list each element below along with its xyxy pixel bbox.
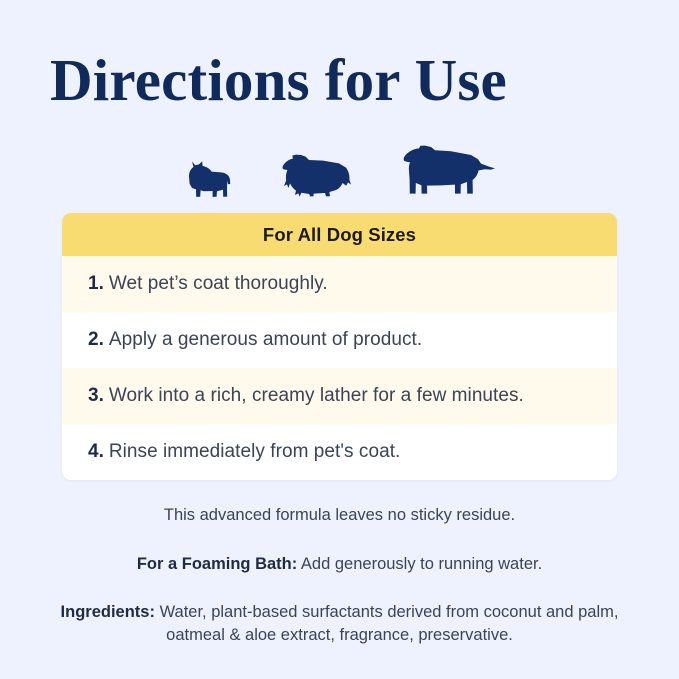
ingredients-note: Ingredients: Water, plant-based surfacta…: [40, 601, 639, 649]
footer-notes: This advanced formula leaves no sticky r…: [40, 500, 639, 648]
medium-dog-silhouette: [279, 150, 357, 200]
page-title: Directions for Use: [50, 50, 507, 112]
directions-for-use-panel: Directions for Use For All Dog Sizes 1. …: [0, 0, 679, 679]
step-text: Rinse immediately from pet's coat.: [109, 441, 401, 463]
ingredients-label: Ingredients:: [61, 603, 155, 621]
small-dog-silhouette: [183, 160, 235, 200]
step-number: 1.: [88, 273, 104, 295]
step-number: 2.: [88, 329, 104, 351]
step-row: 1. Wet pet’s coat thoroughly.: [62, 256, 617, 312]
step-text: Wet pet’s coat thoroughly.: [109, 273, 328, 295]
step-row: 3. Work into a rich, creamy lather for a…: [62, 368, 617, 424]
step-row: 4. Rinse immediately from pet's coat.: [62, 424, 617, 480]
step-number: 3.: [88, 385, 104, 407]
foaming-bath-note: For a Foaming Bath: Add generously to ru…: [40, 553, 639, 575]
residue-note: This advanced formula leaves no sticky r…: [40, 504, 639, 526]
directions-card: For All Dog Sizes 1. Wet pet’s coat thor…: [62, 213, 617, 480]
ingredients-text: Water, plant-based surfactants derived f…: [155, 603, 618, 645]
foaming-bath-text: Add generously to running water.: [297, 555, 542, 573]
step-text: Apply a generous amount of product.: [109, 329, 422, 351]
step-text: Work into a rich, creamy lather for a fe…: [109, 385, 524, 407]
step-number: 4.: [88, 441, 104, 463]
card-header: For All Dog Sizes: [62, 213, 617, 256]
large-dog-silhouette: [401, 142, 497, 200]
foaming-bath-label: For a Foaming Bath:: [137, 555, 297, 573]
step-row: 2. Apply a generous amount of product.: [62, 312, 617, 368]
dog-size-illustrations: [62, 132, 617, 200]
